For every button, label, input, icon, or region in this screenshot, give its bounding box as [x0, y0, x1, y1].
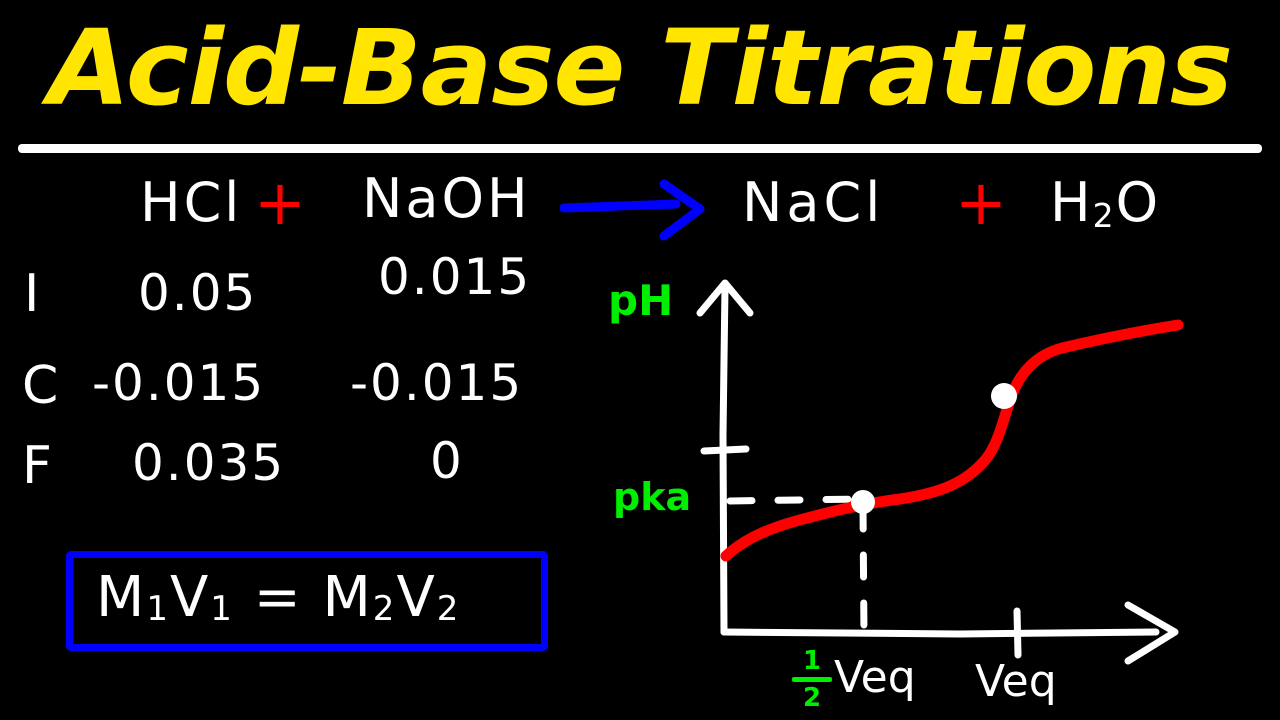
formula-m1: M: [96, 565, 146, 630]
formula-m2: M: [322, 565, 372, 630]
icf-row-label-initial: I: [24, 268, 41, 320]
icf-final-hcl: 0.035: [132, 438, 285, 488]
x-axis-tick-veq: [1017, 611, 1018, 655]
half-equivalence-point-marker: [851, 490, 875, 514]
icf-final-naoh: 0: [430, 436, 464, 486]
titration-curve-chart: [600, 255, 1220, 720]
formula-v1-sub: 1: [210, 589, 234, 629]
y-axis-label-ph: pH: [608, 280, 673, 322]
icf-row-label-change: C: [22, 360, 60, 412]
product-nacl: NaCl: [742, 176, 884, 230]
water-o: O: [1116, 171, 1161, 234]
formula-m2-sub: 2: [373, 589, 397, 629]
dilution-formula-text: M1V1 = M2V2: [96, 570, 460, 626]
fraction-bar: [792, 677, 832, 682]
titration-curve-line: [726, 325, 1178, 556]
formula-v2: V: [396, 565, 436, 630]
y-axis-tick: [704, 449, 746, 451]
formula-m1-sub: 1: [146, 589, 170, 629]
half-equivalence-dashed-guide: [863, 507, 864, 637]
formula-v2-sub: 2: [437, 589, 461, 629]
water-subscript: 2: [1093, 196, 1116, 235]
plus-sign-reactants: +: [254, 172, 306, 234]
fraction-denominator: 2: [792, 684, 832, 711]
slide-canvas: Acid-Base Titrations HCl + NaOH NaCl + H…: [0, 0, 1280, 720]
icf-initial-naoh: 0.015: [378, 252, 531, 302]
title-divider: [18, 144, 1262, 153]
fraction-numerator: 1: [792, 648, 832, 676]
x-axis-label-veq: Veq: [975, 660, 1057, 704]
y-axis: [700, 283, 750, 632]
formula-equals: =: [254, 565, 303, 630]
product-water: H2O: [1050, 176, 1160, 232]
icf-row-label-final: F: [22, 440, 54, 492]
plus-sign-products: +: [955, 172, 1007, 234]
pka-dashed-guide: [730, 499, 862, 501]
reactant-hcl: HCl: [140, 176, 242, 230]
icf-change-hcl: -0.015: [92, 358, 265, 408]
y-axis-label-pka: pka: [613, 478, 691, 516]
formula-v1: V: [170, 565, 210, 630]
half-fraction-label: 1 2: [792, 648, 832, 711]
equivalence-point-marker: [991, 383, 1017, 409]
reaction-arrow-icon: [560, 178, 720, 242]
water-h: H: [1050, 171, 1093, 234]
icf-change-naoh: -0.015: [350, 358, 523, 408]
icf-initial-hcl: 0.05: [138, 268, 257, 318]
reactant-naoh: NaOH: [362, 172, 531, 226]
x-axis-label-half-veq: Veq: [834, 656, 916, 700]
page-title: Acid-Base Titrations: [0, 6, 1280, 130]
